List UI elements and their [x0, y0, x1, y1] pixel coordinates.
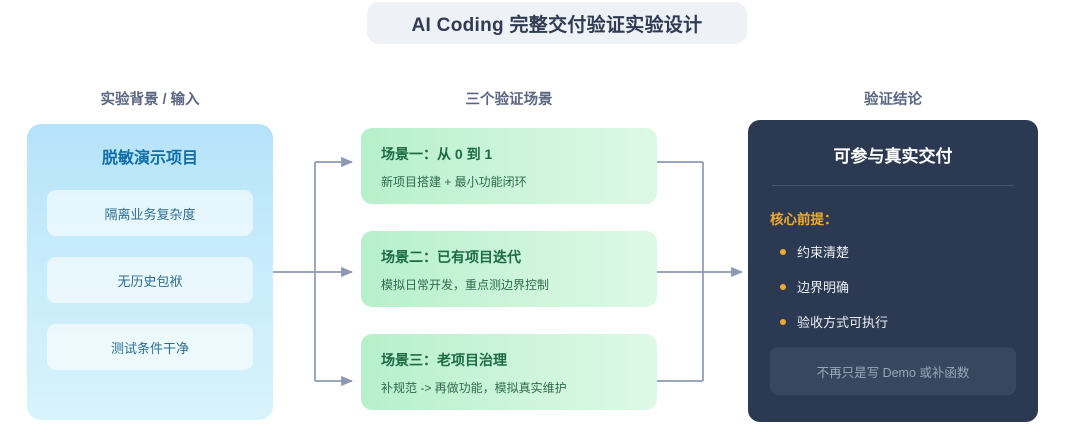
- column-header-input: 实验背景 / 输入: [27, 88, 273, 109]
- conclusion-divider: [772, 185, 1014, 186]
- scenario-title: 场景一：从 0 到 1: [381, 144, 639, 164]
- conclusion-title: 可参与真实交付: [770, 142, 1016, 167]
- diagram-title-pill: AI Coding 完整交付验证实验设计: [367, 2, 747, 44]
- diagram-title: AI Coding 完整交付验证实验设计: [412, 10, 703, 37]
- premise-text: 约束清楚: [797, 242, 849, 261]
- conclusion-note: 不再只是写 Demo 或补函数: [770, 347, 1016, 395]
- input-chip-1: 无历史包袱: [47, 257, 253, 303]
- bullet-dot-icon: [780, 249, 786, 255]
- bullet-dot-icon: [780, 284, 786, 290]
- scenario-card-2: 场景二：已有项目迭代 模拟日常开发，重点测边界控制: [361, 231, 657, 307]
- premise-item-2: 验收方式可执行: [770, 312, 1016, 331]
- input-panel-title: 脱敏演示项目: [47, 144, 253, 168]
- premise-label: 核心前提：: [770, 208, 1016, 228]
- scenario-card-1: 场景一：从 0 到 1 新项目搭建 + 最小功能闭环: [361, 128, 657, 204]
- premise-item-0: 约束清楚: [770, 242, 1016, 261]
- scenario-description: 补规范 -> 再做功能，模拟真实维护: [381, 379, 639, 396]
- premise-item-1: 边界明确: [770, 277, 1016, 296]
- scenario-description: 模拟日常开发，重点测边界控制: [381, 276, 639, 293]
- input-chip-2: 测试条件干净: [47, 324, 253, 370]
- column-header-conclusion: 验证结论: [748, 88, 1038, 109]
- scenario-card-3: 场景三：老项目治理 补规范 -> 再做功能，模拟真实维护: [361, 334, 657, 410]
- scenario-title: 场景三：老项目治理: [381, 350, 639, 370]
- input-chip-0: 隔离业务复杂度: [47, 190, 253, 236]
- column-header-scenarios: 三个验证场景: [361, 88, 657, 109]
- premise-text: 边界明确: [797, 277, 849, 296]
- premise-text: 验收方式可执行: [797, 312, 888, 331]
- conclusion-panel: 可参与真实交付 核心前提： 约束清楚 边界明确 验收方式可执行 不再只是写 De…: [748, 120, 1038, 422]
- bullet-dot-icon: [780, 319, 786, 325]
- scenario-title: 场景二：已有项目迭代: [381, 247, 639, 267]
- scenario-description: 新项目搭建 + 最小功能闭环: [381, 173, 639, 190]
- input-panel: 脱敏演示项目 隔离业务复杂度 无历史包袱 测试条件干净: [27, 124, 273, 420]
